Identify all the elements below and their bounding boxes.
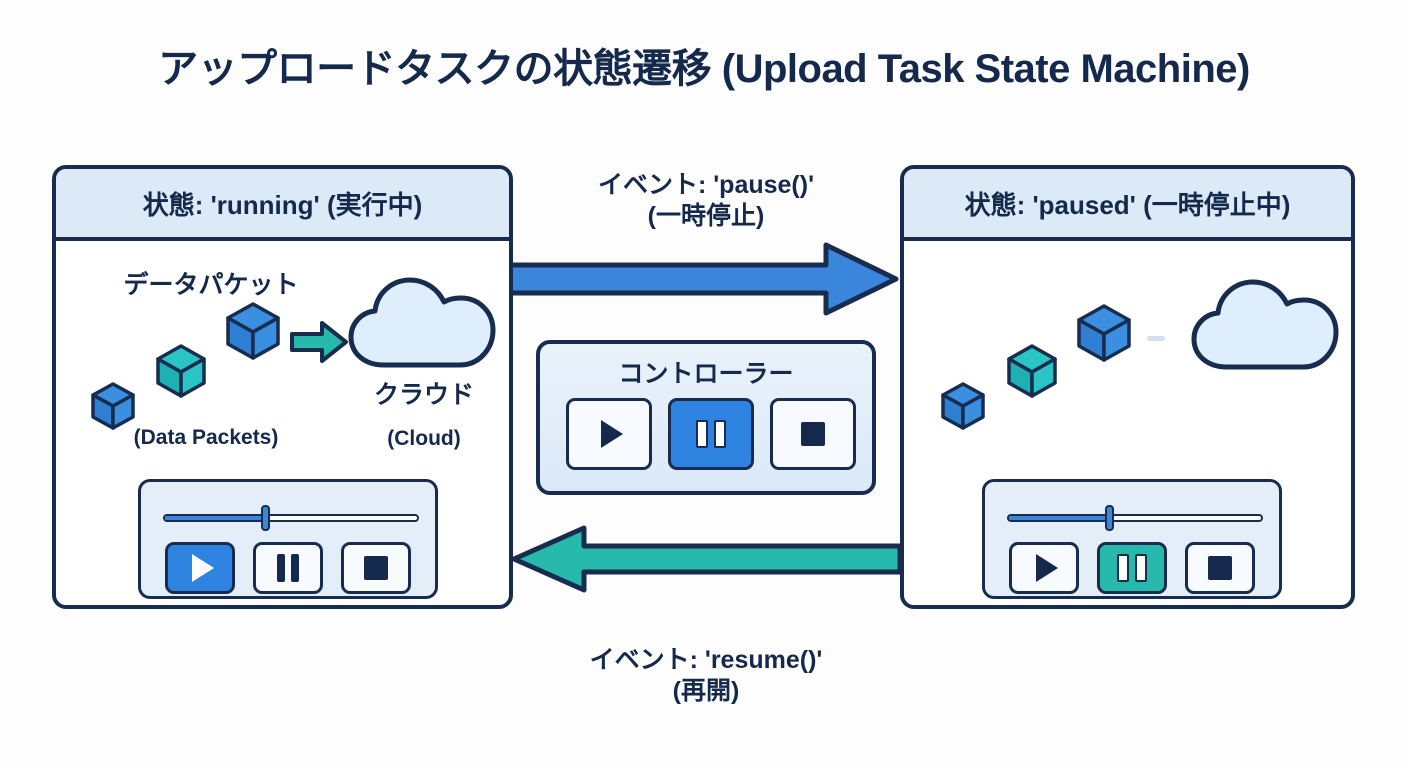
player-widget-paused <box>982 479 1282 599</box>
cloud-label-en: (Cloud) <box>344 427 504 451</box>
play-icon <box>1036 554 1058 582</box>
transition-label-pause: イベント: 'pause()' (一時停止) <box>520 170 892 231</box>
data-packet-cube-1 <box>940 381 986 431</box>
stop-button-running[interactable] <box>341 542 411 594</box>
progress-thumb-running[interactable] <box>261 505 270 531</box>
controller-stop-button[interactable] <box>770 398 856 470</box>
pause-icon <box>277 554 299 582</box>
pause-icon <box>696 420 726 448</box>
play-button-paused[interactable] <box>1009 542 1079 594</box>
transition-arrow-resume <box>500 524 902 599</box>
cloud-label-jp: クラウド <box>344 381 504 409</box>
state-panel-running: 状態: 'running' (実行中) データパケット <box>52 165 513 609</box>
diagram-canvas: アップロードタスクの状態遷移 (Upload Task State Machin… <box>0 0 1408 768</box>
data-packet-cube-2 <box>155 343 207 399</box>
transition-label-pause-line2: (一時停止) <box>520 201 892 232</box>
player-widget-running <box>138 479 438 599</box>
cloud-icon <box>346 269 498 378</box>
stalled-flow-indicator <box>1147 336 1165 341</box>
progress-fill-running <box>165 516 266 520</box>
page-title: アップロードタスクの状態遷移 (Upload Task State Machin… <box>0 36 1408 94</box>
progress-fill-paused <box>1009 516 1110 520</box>
controller-play-button[interactable] <box>566 398 652 470</box>
transition-label-pause-line1: イベント: 'pause()' <box>520 170 892 201</box>
play-icon <box>192 554 214 582</box>
flow-arrow-icon <box>288 319 350 370</box>
progress-track-running[interactable] <box>163 514 419 522</box>
transition-label-resume-line1: イベント: 'resume()' <box>510 645 902 676</box>
controller-title: コントローラー <box>540 354 872 390</box>
state-panel-running-body: データパケット <box>56 241 509 605</box>
stop-icon <box>1208 556 1232 580</box>
controller-pause-button[interactable] <box>668 398 754 470</box>
data-packet-cube-2 <box>1006 343 1058 399</box>
controller-panel: コントローラー <box>536 340 876 495</box>
transition-arrow-pause <box>508 240 900 323</box>
state-panel-paused: 状態: 'paused' (一時停止中) <box>900 165 1355 609</box>
play-icon <box>601 420 623 448</box>
stop-button-paused[interactable] <box>1185 542 1255 594</box>
data-packet-cube-3 <box>1076 303 1132 363</box>
data-packet-cube-3 <box>225 301 281 361</box>
state-panel-running-header: 状態: 'running' (実行中) <box>56 169 509 241</box>
state-panel-paused-header: 状態: 'paused' (一時停止中) <box>904 169 1351 241</box>
data-packet-cube-1 <box>90 381 136 431</box>
data-packets-label-jp: データパケット <box>96 271 326 299</box>
progress-thumb-paused[interactable] <box>1105 505 1114 531</box>
progress-track-paused[interactable] <box>1007 514 1263 522</box>
play-button-running[interactable] <box>165 542 235 594</box>
transition-label-resume-line2: (再開) <box>510 676 902 707</box>
state-panel-paused-body <box>904 241 1351 605</box>
stop-icon <box>801 422 825 446</box>
pause-icon <box>1117 554 1147 582</box>
transition-label-resume: イベント: 'resume()' (再開) <box>510 645 902 706</box>
data-packets-label-en: (Data Packets) <box>76 426 336 450</box>
stop-icon <box>364 556 388 580</box>
cloud-icon <box>1189 271 1341 380</box>
pause-button-paused[interactable] <box>1097 542 1167 594</box>
pause-button-running[interactable] <box>253 542 323 594</box>
